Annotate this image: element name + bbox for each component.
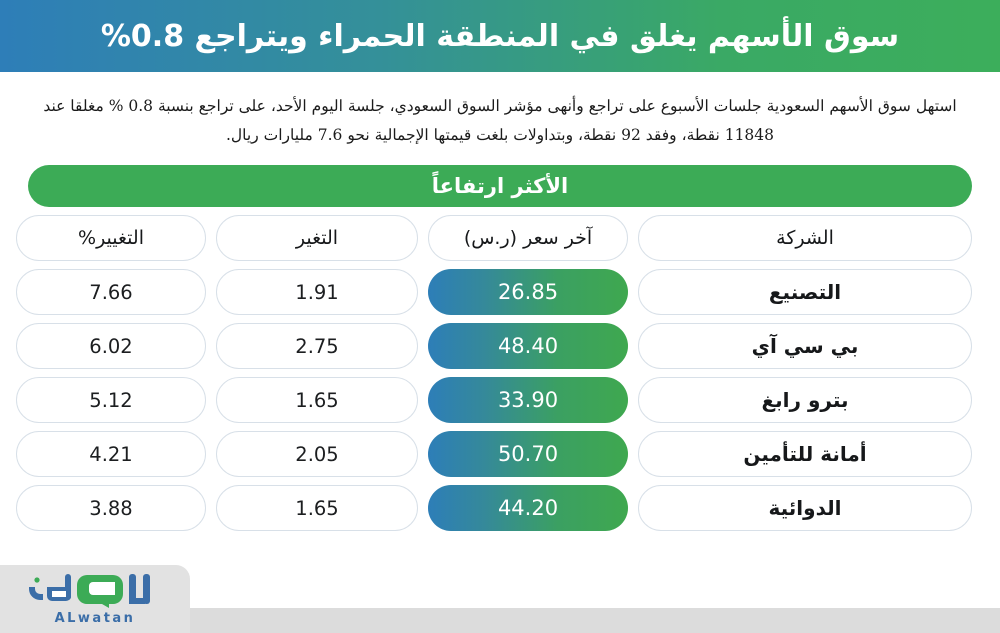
intro-paragraph: استهل سوق الأسهم السعودية جلسات الأسبوع … (32, 92, 968, 149)
section-header-wrap: الأكثر ارتفاعاً (0, 149, 1000, 207)
cell-change-pct: 4.21 (16, 431, 206, 477)
cell-last-price: 48.40 (428, 323, 628, 369)
cell-change: 1.65 (216, 485, 418, 531)
cell-change: 1.65 (216, 377, 418, 423)
alwatan-logo-icon (25, 569, 165, 613)
cell-last-price: 33.90 (428, 377, 628, 423)
cell-change-pct: 5.12 (16, 377, 206, 423)
cell-change-pct: 3.88 (16, 485, 206, 531)
cell-last-price: 26.85 (428, 269, 628, 315)
cell-change-pct: 6.02 (16, 323, 206, 369)
intro-section: استهل سوق الأسهم السعودية جلسات الأسبوع … (0, 72, 1000, 149)
table-row: بترو رابغ 33.90 1.65 5.12 (28, 377, 972, 423)
cell-company: بترو رابغ (638, 377, 972, 423)
header-banner: سوق الأسهم يغلق في المنطقة الحمراء ويترا… (0, 0, 1000, 72)
cell-company: الدوائية (638, 485, 972, 531)
column-header-change-pct: التغيير% (16, 215, 206, 261)
table-row: التصنيع 26.85 1.91 7.66 (28, 269, 972, 315)
cell-change: 1.91 (216, 269, 418, 315)
cell-change: 2.05 (216, 431, 418, 477)
table-row: الدوائية 44.20 1.65 3.88 (28, 485, 972, 531)
alwatan-logo[interactable]: ALwatan (0, 565, 190, 633)
table-row: بي سي آي 48.40 2.75 6.02 (28, 323, 972, 369)
footer: ALwatan (0, 563, 1000, 633)
cell-company: التصنيع (638, 269, 972, 315)
cell-company: أمانة للتأمين (638, 431, 972, 477)
cell-last-price: 50.70 (428, 431, 628, 477)
cell-last-price: 44.20 (428, 485, 628, 531)
gainers-table: الشركة آخر سعر (ر.س) التغير التغيير% الت… (0, 207, 1000, 531)
alwatan-logo-text: ALwatan (55, 611, 136, 626)
page-title: سوق الأسهم يغلق في المنطقة الحمراء ويترا… (101, 20, 899, 53)
section-header-label: الأكثر ارتفاعاً (432, 174, 568, 198)
section-header-bar: الأكثر ارتفاعاً (28, 165, 972, 207)
table-row: أمانة للتأمين 50.70 2.05 4.21 (28, 431, 972, 477)
table-header-row: الشركة آخر سعر (ر.س) التغير التغيير% (28, 215, 972, 261)
column-header-last-price: آخر سعر (ر.س) (428, 215, 628, 261)
column-header-change: التغير (216, 215, 418, 261)
cell-change-pct: 7.66 (16, 269, 206, 315)
cell-company: بي سي آي (638, 323, 972, 369)
cell-change: 2.75 (216, 323, 418, 369)
column-header-company: الشركة (638, 215, 972, 261)
